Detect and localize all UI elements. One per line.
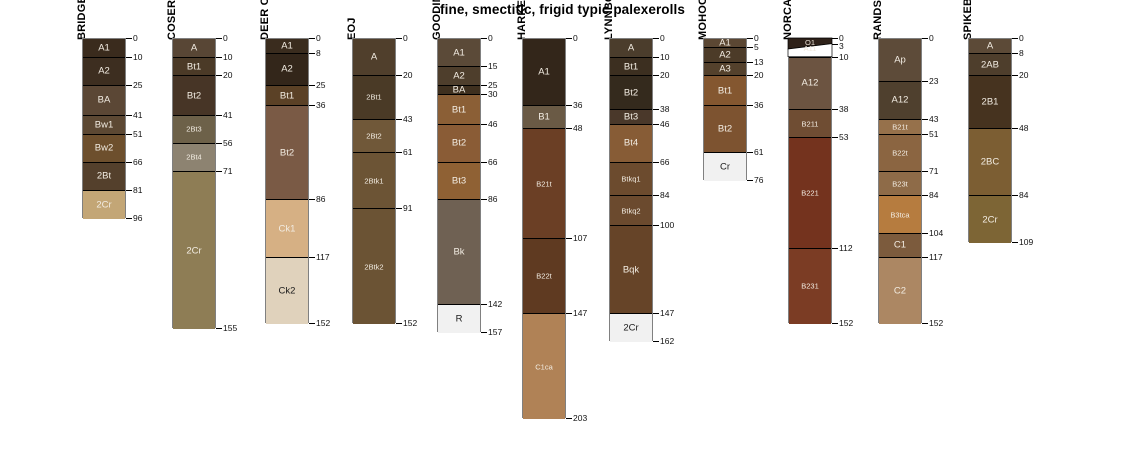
depth-tick-label: 147 [573, 309, 587, 318]
depth-tick [566, 238, 572, 239]
depth-tick-label: 41 [133, 111, 142, 120]
depth-tick-label: 0 [403, 34, 408, 43]
profile-name-label: MOHOCKEN [697, 0, 709, 40]
depth-tick-label: 66 [133, 158, 142, 167]
depth-tick-label: 53 [839, 133, 848, 142]
profile-name-label: DEER CREEK [259, 0, 271, 40]
depth-tick-label: 0 [573, 34, 578, 43]
horizon-b211: B211 [789, 110, 831, 138]
depth-tick-label: 3 [839, 42, 844, 51]
horizon-2btk2: 2Btk2 [353, 209, 395, 323]
horizon-2cr: 2Cr [83, 191, 125, 219]
depth-tick-label: 10 [133, 53, 142, 62]
depth-tick [653, 75, 659, 76]
depth-tick-label: 107 [573, 234, 587, 243]
depth-tick-label: 142 [488, 300, 502, 309]
depth-tick-label: 51 [929, 130, 938, 139]
horizon-label: Bt2 [610, 88, 652, 98]
depth-tick-label: 48 [1019, 124, 1028, 133]
depth-tick-label: 0 [754, 34, 759, 43]
depth-tick-label: 13 [754, 58, 763, 67]
horizon-bw2: Bw2 [83, 135, 125, 163]
horizon-label: R [438, 314, 480, 324]
horizon-label: Bk [438, 247, 480, 257]
depth-tick [126, 134, 132, 135]
depth-tick-label: 20 [403, 71, 412, 80]
horizon-btkq2: Btkq2 [610, 196, 652, 226]
depth-tick-label: 15 [488, 62, 497, 71]
horizon-b21t: B21t [523, 129, 565, 240]
horizon-2bt1: 2Bt1 [353, 76, 395, 119]
depth-tick-label: 109 [1019, 238, 1033, 247]
horizon-label: A2 [704, 51, 746, 61]
horizon-b1: B1 [523, 106, 565, 128]
depth-tick [481, 124, 487, 125]
depth-tick [309, 85, 315, 86]
depth-tick [566, 38, 572, 39]
depth-tick [832, 248, 838, 249]
horizon-a2: A2 [438, 67, 480, 86]
horizon-label: Bt2 [704, 125, 746, 135]
horizon-a1: A1 [266, 39, 308, 54]
horizon-label: BA [438, 86, 480, 95]
horizon-bt2: Bt2 [173, 76, 215, 115]
depth-tick [747, 152, 753, 153]
horizon-label: Btkq1 [610, 175, 652, 183]
horizon-label: 2Btk2 [353, 263, 395, 271]
profile-column: ABt1Bt22Bt32Bt42Cr [172, 38, 216, 328]
depth-tick-label: 36 [316, 101, 325, 110]
horizon-2cr: 2Cr [610, 314, 652, 342]
horizon-label: A1 [523, 67, 565, 77]
profile-column: A1A2A3Bt1Bt2Cr [703, 38, 747, 180]
horizon-r: R [438, 305, 480, 333]
depth-tick [922, 134, 928, 135]
horizon-ba: BA [438, 86, 480, 95]
horizon-2cr: 2Cr [173, 172, 215, 329]
depth-tick-label: 147 [660, 309, 674, 318]
profile-name-label: SPIKEBUTTE [962, 0, 974, 40]
horizon-2cr: 2Cr [969, 196, 1011, 243]
horizon-label: 2Cr [969, 215, 1011, 225]
horizon-label: B221 [789, 189, 831, 197]
horizon-label: 2Cr [610, 324, 652, 334]
profile-column: A1A2Bt1Bt2Ck1Ck2 [265, 38, 309, 323]
depth-tick-label: 56 [223, 139, 232, 148]
horizon-label: B23t [879, 180, 921, 188]
horizon-2bc: 2BC [969, 129, 1011, 196]
horizon-label: A3 [704, 65, 746, 75]
horizon-2bt2: 2Bt2 [353, 120, 395, 154]
depth-tick-label: 36 [754, 101, 763, 110]
horizon-a: A [353, 39, 395, 76]
horizon-label: 2Bt1 [353, 94, 395, 102]
horizon-label: B211 [789, 120, 831, 128]
depth-tick-label: 43 [403, 115, 412, 124]
horizon-ap: Ap [879, 39, 921, 82]
horizon-label: 2Bt [83, 171, 125, 181]
horizon-btkq1: Btkq1 [610, 163, 652, 197]
depth-tick [566, 313, 572, 314]
depth-tick-label: 96 [133, 214, 142, 223]
depth-tick-label: 8 [316, 49, 321, 58]
horizon-label: Bt2 [266, 148, 308, 158]
horizon-label: 2Bt4 [173, 154, 215, 162]
horizon-label: A [610, 43, 652, 53]
horizon-label: Bt4 [610, 139, 652, 149]
horizon-bt1: Bt1 [438, 95, 480, 125]
depth-tick-label: 71 [223, 167, 232, 176]
horizon-label: C1 [879, 241, 921, 251]
horizon-bt3: Bt3 [610, 110, 652, 125]
horizon-label: B3tca [879, 211, 921, 219]
horizon-label: Bw1 [83, 120, 125, 130]
depth-tick [216, 75, 222, 76]
horizon-label: B22t [523, 273, 565, 281]
depth-tick-label: 71 [929, 167, 938, 176]
depth-tick [566, 418, 572, 419]
depth-tick [653, 195, 659, 196]
depth-tick-label: 41 [223, 111, 232, 120]
depth-tick-label: 117 [316, 253, 330, 262]
horizon-label: 2Bt3 [173, 126, 215, 134]
horizon-label: 2Cr [83, 200, 125, 210]
depth-tick-label: 152 [316, 319, 330, 328]
depth-tick [396, 75, 402, 76]
depth-tick [126, 85, 132, 86]
depth-tick [922, 233, 928, 234]
horizon-bt3: Bt3 [438, 163, 480, 200]
depth-tick [653, 162, 659, 163]
depth-tick-label: 152 [403, 319, 417, 328]
horizon-label: Btkq2 [610, 207, 652, 215]
depth-tick-label: 0 [316, 34, 321, 43]
depth-tick [126, 218, 132, 219]
depth-tick-label: 23 [929, 77, 938, 86]
depth-tick-label: 25 [316, 81, 325, 90]
depth-tick-label: 61 [403, 148, 412, 157]
depth-tick [481, 94, 487, 95]
depth-tick [309, 199, 315, 200]
horizon-a2: A2 [704, 48, 746, 63]
horizon-label: Bt3 [610, 112, 652, 122]
depth-tick-label: 84 [660, 191, 669, 200]
horizon-label: A [969, 41, 1011, 51]
depth-tick [126, 190, 132, 191]
depth-tick-label: 10 [660, 53, 669, 62]
profile-name-label: EOJ [346, 17, 358, 40]
horizon-label: Bt2 [173, 91, 215, 101]
horizon-ba: BA [83, 86, 125, 116]
horizon-2bt: 2Bt [83, 163, 125, 191]
horizon-label: Ck1 [266, 224, 308, 234]
horizon-label: C1ca [523, 363, 565, 371]
profile-name-label: LYNNBOW [603, 0, 615, 40]
depth-tick [653, 109, 659, 110]
depth-tick [922, 257, 928, 258]
horizon-label: B231 [789, 282, 831, 290]
horizon-label: B21t [879, 123, 921, 131]
depth-tick [1012, 38, 1018, 39]
depth-tick-label: 0 [1019, 34, 1024, 43]
depth-tick-label: 25 [133, 81, 142, 90]
depth-tick [922, 195, 928, 196]
horizon-label: Ck2 [266, 286, 308, 296]
horizon-bt1: Bt1 [266, 86, 308, 107]
profile-name-label: GOODINGTON [431, 0, 443, 40]
horizon-b3tca: B3tca [879, 196, 921, 233]
horizon-bqk: Bqk [610, 226, 652, 314]
horizon-bt2: Bt2 [438, 125, 480, 162]
depth-tick [653, 313, 659, 314]
depth-tick [832, 109, 838, 110]
horizon-label: A1 [704, 39, 746, 48]
horizon-2btk1: 2Btk1 [353, 153, 395, 209]
horizon-a: A [969, 39, 1011, 54]
horizon-label: Bt1 [704, 86, 746, 96]
depth-tick [747, 38, 753, 39]
profile-column: A1A2BABt1Bt2Bt3BkR [437, 38, 481, 332]
depth-tick-label: 100 [660, 221, 674, 230]
horizon-a12: A12 [879, 82, 921, 119]
depth-tick-label: 46 [660, 120, 669, 129]
depth-tick-label: 38 [839, 105, 848, 114]
horizon-label: Bt1 [438, 105, 480, 115]
depth-tick [396, 119, 402, 120]
depth-tick [1012, 75, 1018, 76]
depth-tick-label: 152 [929, 319, 943, 328]
horizon-label: B21t [523, 180, 565, 188]
depth-tick [747, 105, 753, 106]
horizon-label: Bt2 [438, 139, 480, 149]
depth-tick-label: 117 [929, 253, 943, 262]
depth-tick [653, 57, 659, 58]
horizon-label: A2 [438, 71, 480, 81]
depth-tick [216, 328, 222, 329]
thin-horizon-wedge [788, 38, 834, 60]
horizon-a1: A1 [523, 39, 565, 106]
horizon-bt1: Bt1 [704, 76, 746, 106]
depth-tick [126, 115, 132, 116]
depth-tick [481, 332, 487, 333]
depth-tick-label: 20 [754, 71, 763, 80]
depth-tick-label: 0 [223, 34, 228, 43]
depth-tick [653, 124, 659, 125]
depth-tick [747, 62, 753, 63]
profile-name-label: BRIDGECREEK [76, 0, 88, 40]
depth-tick-label: 203 [573, 414, 587, 423]
depth-tick [922, 38, 928, 39]
depth-tick-label: 8 [1019, 49, 1024, 58]
profile-name-label: COSER [166, 0, 178, 40]
depth-tick-label: 66 [660, 158, 669, 167]
horizon-c1: C1 [879, 234, 921, 258]
horizon-label: A12 [789, 79, 831, 89]
depth-tick-label: 0 [660, 34, 665, 43]
horizon-2bt3: 2Bt3 [173, 116, 215, 144]
depth-tick-label: 91 [403, 204, 412, 213]
depth-tick [216, 57, 222, 58]
profile-column: A1B1B21tB22tC1ca [522, 38, 566, 418]
depth-tick [481, 66, 487, 67]
depth-tick [566, 128, 572, 129]
horizon-label: 2Btk1 [353, 177, 395, 185]
depth-tick-label: 20 [223, 71, 232, 80]
depth-tick [309, 105, 315, 106]
horizon-label: 2B1 [969, 97, 1011, 107]
depth-tick [309, 38, 315, 39]
depth-tick-label: 10 [839, 53, 848, 62]
horizon-cr: Cr [704, 153, 746, 181]
horizon-label: A [353, 52, 395, 62]
depth-tick [832, 137, 838, 138]
depth-tick-label: 43 [929, 115, 938, 124]
profile-name-label: HARKERS [516, 0, 528, 40]
horizon-c2: C2 [879, 258, 921, 324]
depth-tick [832, 323, 838, 324]
profile-column: ABt1Bt2Bt3Bt4Btkq1Btkq2Bqk2Cr [609, 38, 653, 341]
horizon-label: 2AB [969, 60, 1011, 70]
depth-tick [747, 180, 753, 181]
depth-tick-label: 61 [754, 148, 763, 157]
depth-tick-label: 157 [488, 328, 502, 337]
depth-tick [1012, 53, 1018, 54]
horizon-label: Bt1 [266, 91, 308, 101]
depth-tick [1012, 242, 1018, 243]
horizon-bt2: Bt2 [266, 106, 308, 200]
depth-tick [309, 257, 315, 258]
depth-tick-label: 81 [133, 186, 142, 195]
profile-column: A1A2BABw1Bw22Bt2Cr [82, 38, 126, 218]
depth-tick [126, 162, 132, 163]
horizon-bt1: Bt1 [610, 58, 652, 77]
horizon-a: A [173, 39, 215, 58]
horizon-2bt4: 2Bt4 [173, 144, 215, 172]
depth-tick [481, 304, 487, 305]
depth-tick-label: 76 [754, 176, 763, 185]
horizon-a1: A1 [83, 39, 125, 58]
depth-tick-label: 51 [133, 130, 142, 139]
horizon-bt2: Bt2 [610, 76, 652, 110]
depth-tick [747, 75, 753, 76]
depth-tick-label: 5 [754, 43, 759, 52]
horizon-label: Bt1 [610, 62, 652, 72]
profile-column: ApA12B21tB22tB23tB3tcaC1C2 [878, 38, 922, 323]
horizon-label: Bw2 [83, 143, 125, 153]
profile-column: A2Bt12Bt22Btk12Btk2 [352, 38, 396, 323]
depth-tick [126, 57, 132, 58]
horizon-b23t: B23t [879, 172, 921, 196]
depth-tick [216, 143, 222, 144]
depth-tick [481, 199, 487, 200]
depth-tick [1012, 195, 1018, 196]
horizon-bw1: Bw1 [83, 116, 125, 135]
depth-tick [396, 38, 402, 39]
depth-tick-label: 0 [133, 34, 138, 43]
depth-tick [481, 38, 487, 39]
horizon-ck2: Ck2 [266, 258, 308, 324]
horizon-bt2: Bt2 [704, 106, 746, 153]
horizon-a1: A1 [704, 39, 746, 48]
depth-tick [653, 225, 659, 226]
horizon-bt1: Bt1 [173, 58, 215, 77]
horizon-b231: B231 [789, 249, 831, 324]
horizon-bk: Bk [438, 200, 480, 305]
depth-tick-label: 162 [660, 337, 674, 346]
horizon-label: C2 [879, 286, 921, 296]
horizon-2b1: 2B1 [969, 76, 1011, 128]
depth-tick-label: 66 [488, 158, 497, 167]
profile-name-label: RANDS [872, 0, 884, 40]
horizon-label: Cr [704, 163, 746, 173]
horizon-a12: A12 [789, 58, 831, 110]
depth-tick [309, 53, 315, 54]
profile-name-label: NORCAN [782, 0, 794, 40]
depth-tick [126, 38, 132, 39]
horizon-label: Bqk [610, 265, 652, 275]
horizon-label: BA [83, 96, 125, 106]
depth-tick-label: 38 [660, 105, 669, 114]
horizon-a2: A2 [266, 54, 308, 86]
depth-tick [396, 323, 402, 324]
horizon-c1ca: C1ca [523, 314, 565, 419]
depth-tick [1012, 128, 1018, 129]
horizon-label: Bt3 [438, 176, 480, 186]
horizon-label: B22t [879, 149, 921, 157]
depth-tick-label: 20 [1019, 71, 1028, 80]
depth-tick [216, 38, 222, 39]
depth-tick [309, 323, 315, 324]
horizon-b21t: B21t [879, 120, 921, 135]
horizon-label: 2BC [969, 157, 1011, 167]
horizon-label: 2Bt2 [353, 132, 395, 140]
depth-tick [747, 47, 753, 48]
horizon-label: 2Cr [173, 246, 215, 256]
horizon-a3: A3 [704, 63, 746, 76]
horizon-label: A12 [879, 96, 921, 106]
depth-tick-label: 46 [488, 120, 497, 129]
depth-tick-label: 36 [573, 101, 582, 110]
depth-tick [216, 171, 222, 172]
horizon-b22t: B22t [523, 239, 565, 314]
profile-column: O1A11A12B211B221B231 [788, 38, 832, 323]
depth-tick-label: 84 [929, 191, 938, 200]
depth-tick-label: 10 [223, 53, 232, 62]
horizon-a2: A2 [83, 58, 125, 86]
horizon-label: A1 [83, 43, 125, 53]
horizon-b22t: B22t [879, 135, 921, 172]
depth-tick-label: 86 [316, 195, 325, 204]
horizon-a: A [610, 39, 652, 58]
depth-tick [653, 38, 659, 39]
depth-tick-label: 104 [929, 229, 943, 238]
depth-tick-label: 0 [929, 34, 934, 43]
depth-tick [922, 81, 928, 82]
depth-tick-label: 152 [839, 319, 853, 328]
depth-tick-label: 155 [223, 324, 237, 333]
horizon-ck1: Ck1 [266, 200, 308, 258]
depth-tick-label: 84 [1019, 191, 1028, 200]
horizon-label: A1 [438, 48, 480, 58]
horizon-label: B1 [523, 112, 565, 122]
depth-tick [922, 323, 928, 324]
depth-tick [922, 119, 928, 120]
horizon-bt4: Bt4 [610, 125, 652, 162]
horizon-label: A2 [266, 65, 308, 75]
depth-tick [922, 171, 928, 172]
depth-tick [653, 341, 659, 342]
horizon-label: Bt1 [173, 62, 215, 72]
